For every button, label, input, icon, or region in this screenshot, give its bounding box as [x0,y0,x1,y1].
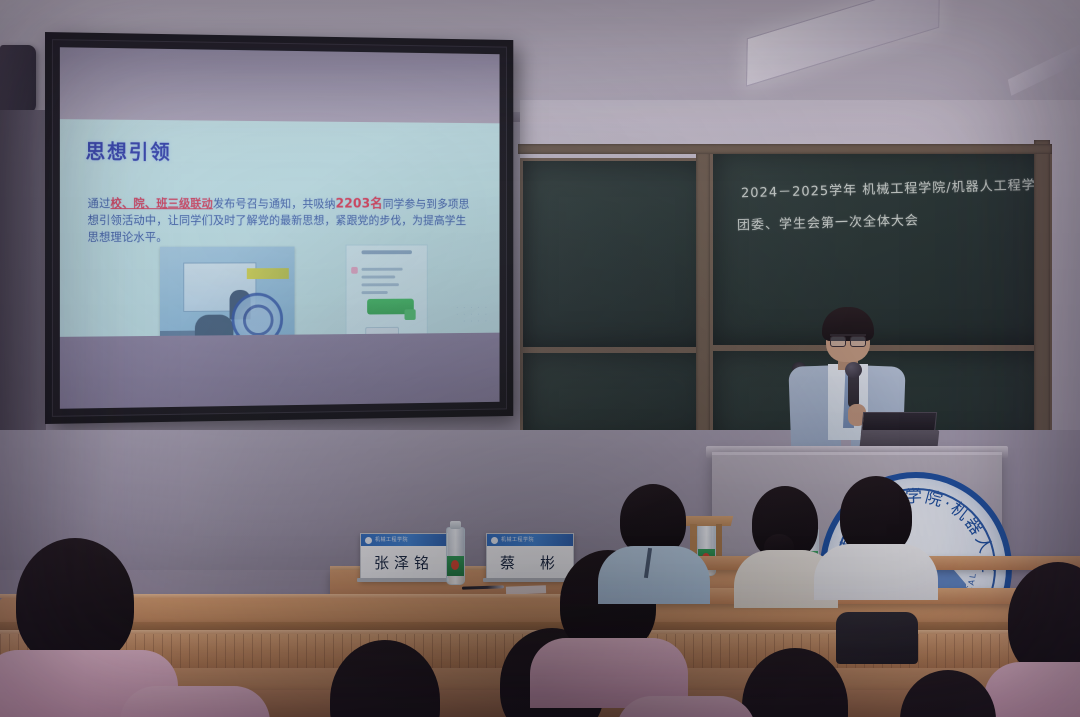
screen-letterbox-top [60,47,500,123]
audience-shoulders [598,546,710,604]
photo-inner-banner [247,268,289,279]
left-wall-shadow [0,110,46,440]
backpack-icon [836,612,918,664]
photo-inner-silhouette [195,315,234,337]
audience-shoulders [120,686,270,717]
slide-body-highlight: 校、院、班三级联动 [111,196,213,210]
glasses-icon [830,334,866,345]
chalk-text-line-1: 2024－2025学年 机械工程学院/机器人工程学院 [741,173,1050,208]
chat-text-line [362,268,403,271]
wall-speaker-icon [0,45,36,113]
blackboard-top-frame [518,144,1052,154]
bottle-label [447,556,464,576]
slide-body-number: 2203名 [336,197,383,212]
projection-screen: 思想引领 通过校、院、班三级联动发布号召与通知，共吸纳2203名同学参与到多项思… [45,32,513,424]
water-bottle-icon [446,527,465,585]
photo-inner-emblem-icon [231,293,283,337]
name-card-stand [357,578,449,582]
school-logo-icon [491,537,498,544]
name-card: 机械工程学院 蔡 彬 [486,533,574,581]
chat-text-line [362,283,399,286]
slide-photo-classroom [160,247,295,337]
audience-shoulders [984,662,1080,717]
chat-text-line [362,275,396,278]
audience-shoulders [616,696,756,717]
name-card-stand [483,578,575,582]
name-card-banner: 机械工程学院 [487,534,573,546]
name-card-banner-text: 机械工程学院 [501,536,534,543]
name-card: 机械工程学院 张泽铭 [360,533,448,581]
lecture-hall-photo: 2024－2025学年 机械工程学院/机器人工程学院 团委、学生会第一次全体大会… [0,0,1080,717]
screen-letterbox-bottom [60,333,500,409]
bottle-cap [450,521,461,529]
chat-header-bar [362,250,412,254]
microphone-head-icon [845,362,862,378]
chat-green-bubble-tail [405,309,416,320]
slide-photo-chat-screenshot [346,244,428,336]
name-card-name: 蔡 彬 [487,548,573,578]
school-logo-icon [365,537,372,544]
slide-body-prefix: 通过 [88,196,111,210]
blackboard-divider [696,152,710,452]
audience-head [16,538,134,666]
name-card-banner-text: 机械工程学院 [375,536,408,543]
name-card-name: 张泽铭 [361,548,447,578]
slide-watermark: · · · · ·· · · · ·· · · · [456,305,488,325]
slide-body-mid: 发布号召与通知，共吸纳 [213,196,336,210]
blackboard-edge-frame [1034,140,1050,456]
chalk-text-line-2: 团委、学生会第一次全体大会 [737,208,920,239]
audience-shoulders [814,544,938,600]
presentation-slide: 思想引领 通过校、院、班三级联动发布号召与通知，共吸纳2203名同学参与到多项思… [60,119,500,337]
blackboard-panel [520,158,714,350]
chat-avatar-icon [351,267,358,274]
chat-text-line [362,291,388,294]
name-card-banner: 机械工程学院 [361,534,447,546]
slide-title: 思想引领 [86,135,172,164]
slide-body-text: 通过校、院、班三级联动发布号召与通知，共吸纳2203名同学参与到多项思想引领活动… [88,195,476,246]
